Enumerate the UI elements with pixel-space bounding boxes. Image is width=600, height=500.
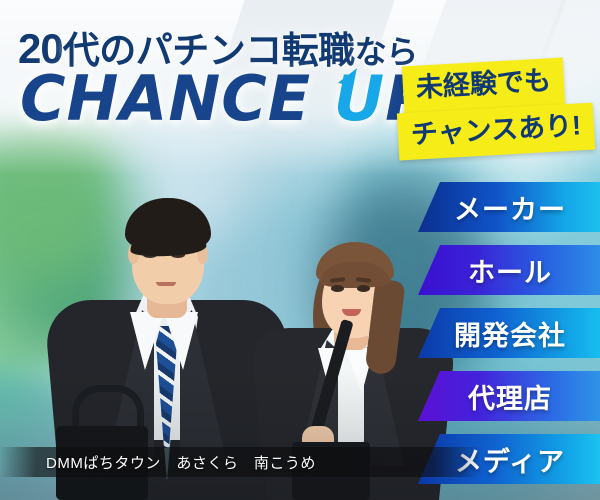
credit-text: DMMぱちタウン あさくら 南こうめ bbox=[46, 452, 316, 473]
category-button-agency[interactable]: 代理店 bbox=[418, 371, 600, 421]
category-button-list: メーカー ホール 開発会社 代理店 メディア bbox=[0, 0, 600, 500]
category-button-hall[interactable]: ホール bbox=[418, 245, 600, 295]
recruitment-banner: 20代のパチンコ転職なら CHANCE UP 未経験でも チャンスあり! メーカ… bbox=[0, 0, 600, 500]
category-button-development-company[interactable]: 開発会社 bbox=[418, 308, 600, 358]
category-button-maker[interactable]: メーカー bbox=[418, 182, 600, 232]
category-label: 開発会社 bbox=[454, 314, 566, 353]
category-label: 代理店 bbox=[468, 377, 552, 416]
category-label: メーカー bbox=[454, 188, 566, 227]
credit-bar: DMMぱちタウン あさくら 南こうめ bbox=[0, 447, 600, 477]
category-label: ホール bbox=[468, 251, 552, 290]
